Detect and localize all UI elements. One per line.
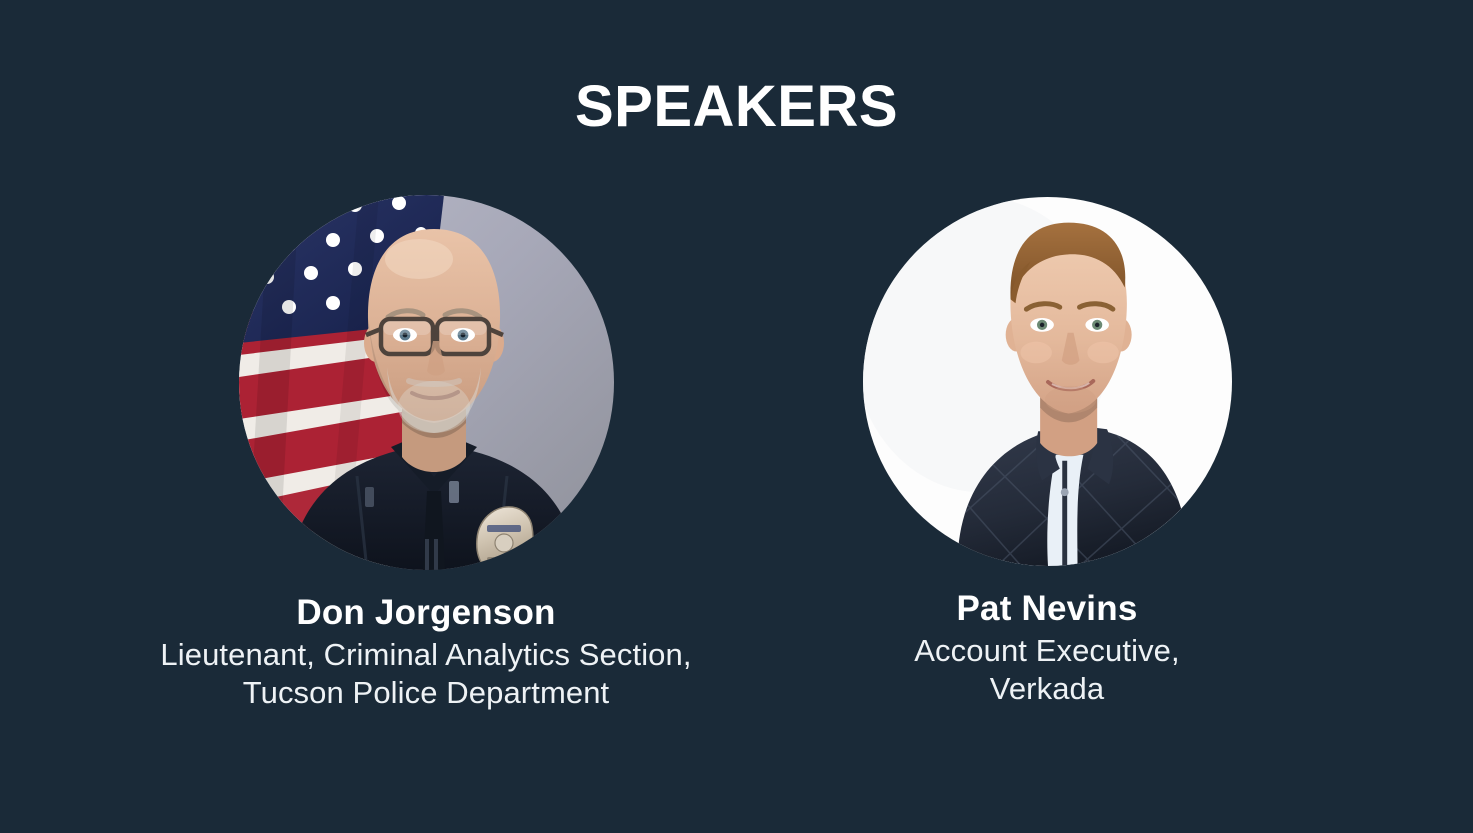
- page-title: SPEAKERS: [0, 78, 1473, 136]
- speaker-photo-2: [863, 197, 1232, 566]
- speaker-role: Lieutenant, Criminal Analytics Section, …: [106, 636, 746, 712]
- speaker-text-2: Pat Nevins Account Executive, Verkada: [727, 588, 1367, 708]
- speaker-role-line-1: Account Executive,: [727, 632, 1367, 670]
- speaker-role-line-1: Lieutenant, Criminal Analytics Section,: [106, 636, 746, 674]
- speaker-text-1: Don Jorgenson Lieutenant, Criminal Analy…: [106, 592, 746, 712]
- speaker-photo-1: [239, 195, 614, 570]
- speakers-row: Don Jorgenson Lieutenant, Criminal Analy…: [0, 195, 1473, 712]
- portrait-illustration-account-executive: [863, 197, 1232, 566]
- speaker-role-line-2: Verkada: [727, 670, 1367, 708]
- speaker-name: Don Jorgenson: [106, 592, 746, 633]
- speaker-card-2: Pat Nevins Account Executive, Verkada: [737, 195, 1357, 708]
- speaker-role: Account Executive, Verkada: [727, 632, 1367, 708]
- speakers-slide: SPEAKERS: [0, 0, 1473, 833]
- speaker-role-line-2: Tucson Police Department: [106, 674, 746, 712]
- speaker-card-1: Don Jorgenson Lieutenant, Criminal Analy…: [116, 195, 736, 712]
- speaker-name: Pat Nevins: [727, 588, 1367, 629]
- portrait-illustration-police-officer: [239, 195, 614, 570]
